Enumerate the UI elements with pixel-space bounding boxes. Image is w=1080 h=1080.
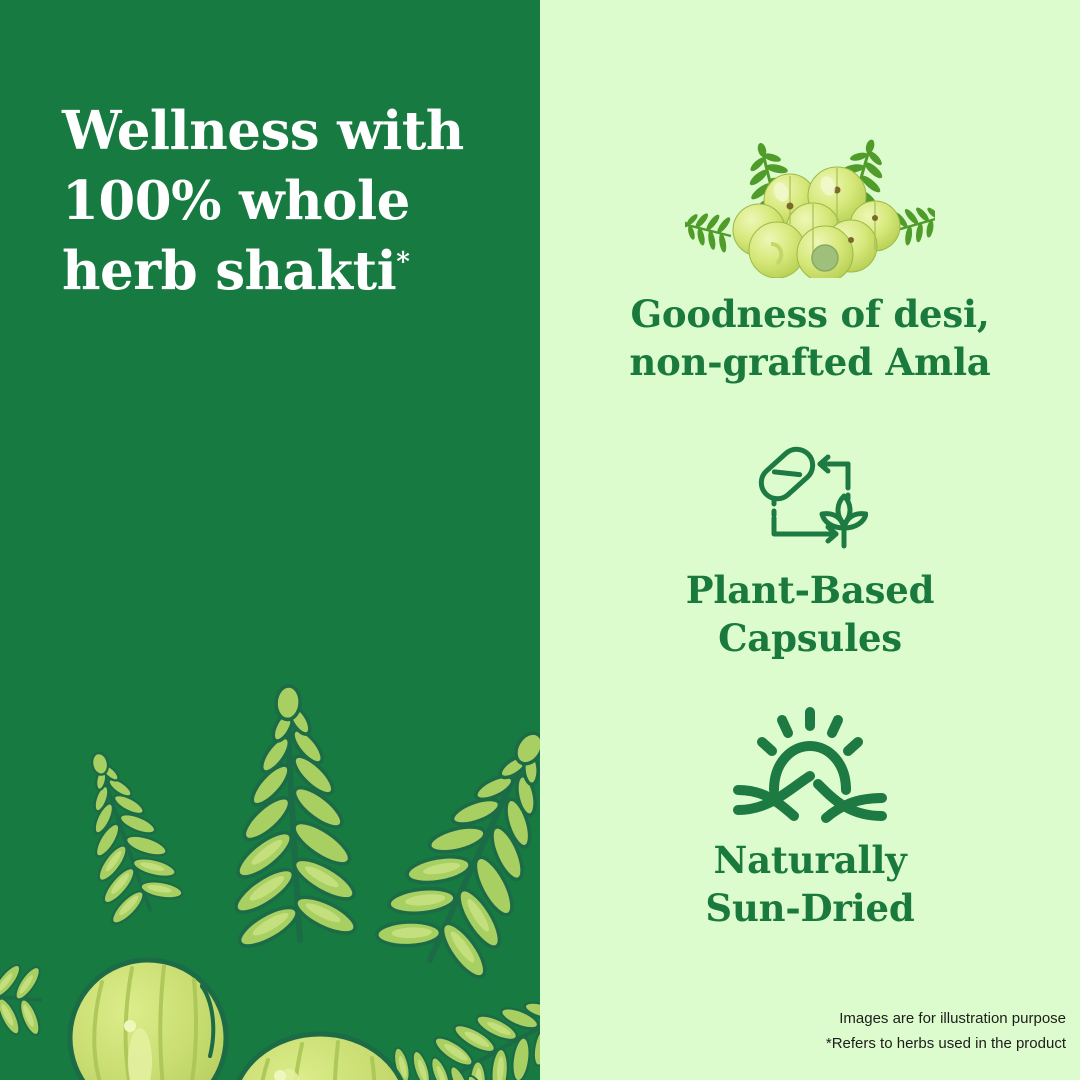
feature-capsules-caption-line-1: Plant-Based bbox=[540, 566, 1080, 614]
disclaimer: Images are for illustration purpose *Ref… bbox=[826, 1006, 1066, 1056]
headline-line-2: 100% whole bbox=[62, 166, 522, 236]
left-panel: Wellness with 100% whole herb shakti* bbox=[0, 0, 540, 1080]
feature-sundried-caption-line-2: Sun-Dried bbox=[540, 884, 1080, 932]
feature-capsules: Plant-Based Capsules bbox=[540, 442, 1080, 662]
feature-sundried: Naturally Sun-Dried bbox=[540, 706, 1080, 932]
sun-over-fields-icon bbox=[540, 706, 1080, 824]
headline-line-3-text: herb shakti bbox=[62, 240, 396, 302]
amla-berries-photo bbox=[540, 118, 1080, 278]
feature-amla-caption-line-2: non-grafted Amla bbox=[540, 338, 1080, 386]
headline-line-3: herb shakti* bbox=[62, 236, 522, 306]
right-panel: Goodness of desi, non-grafted Amla bbox=[540, 0, 1080, 1080]
feature-amla-caption-line-1: Goodness of desi, bbox=[540, 290, 1080, 338]
feature-capsules-caption-line-2: Capsules bbox=[540, 614, 1080, 662]
feature-sundried-caption-line-1: Naturally bbox=[540, 836, 1080, 884]
feature-sundried-caption: Naturally Sun-Dried bbox=[540, 836, 1080, 932]
headline-asterisk: * bbox=[396, 247, 409, 277]
feature-capsules-caption: Plant-Based Capsules bbox=[540, 566, 1080, 662]
promo-banner: Wellness with 100% whole herb shakti* bbox=[0, 0, 1080, 1080]
headline: Wellness with 100% whole herb shakti* bbox=[62, 96, 522, 306]
headline-line-1: Wellness with bbox=[62, 96, 522, 166]
feature-amla: Goodness of desi, non-grafted Amla bbox=[540, 118, 1080, 386]
feature-amla-caption: Goodness of desi, non-grafted Amla bbox=[540, 290, 1080, 386]
disclaimer-line-2: *Refers to herbs used in the product bbox=[826, 1031, 1066, 1056]
disclaimer-line-1: Images are for illustration purpose bbox=[826, 1006, 1066, 1031]
amla-illustration bbox=[0, 440, 540, 1080]
capsule-plant-cycle-icon bbox=[540, 442, 1080, 554]
